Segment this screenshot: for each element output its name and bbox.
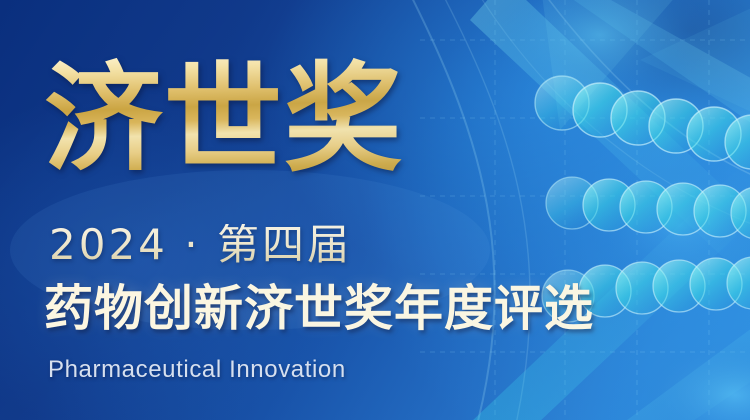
foreground-sheen: [0, 0, 750, 420]
award-banner: 济世奖 2024 · 第四届 药物创新济世奖年度评选 Pharmaceutica…: [0, 0, 750, 420]
